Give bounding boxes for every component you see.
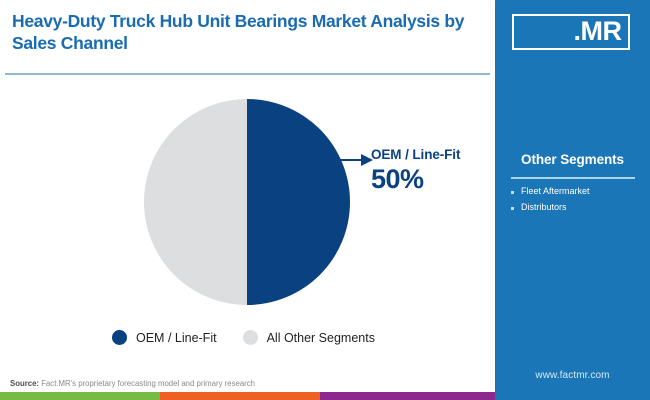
legend-item-all-other-segments[interactable]: All Other Segments (243, 330, 375, 345)
pie-slice-all-other-segments[interactable] (144, 99, 247, 305)
pie-chart (144, 99, 350, 305)
legend-swatch-icon (112, 330, 127, 345)
callout-value: 50% (371, 165, 491, 193)
bullet-icon (511, 191, 514, 194)
bullet-icon (511, 207, 514, 210)
footer-color-bar (0, 392, 495, 400)
other-segments-divider (511, 177, 635, 179)
callout-label: OEM / Line-Fit (371, 148, 491, 163)
infographic-root: Heavy-Duty Truck Hub Unit Bearings Marke… (0, 0, 650, 400)
source-note: Source: Fact.MR's proprietary forecastin… (10, 379, 255, 388)
legend-swatch-icon (243, 330, 258, 345)
logo-primary-text: Fact (520, 18, 574, 45)
pie-slice-oem-line-fit[interactable] (247, 99, 350, 305)
page-title: Heavy-Duty Truck Hub Unit Bearings Marke… (12, 10, 482, 55)
callout-arrow-icon (330, 148, 374, 172)
factmr-logo[interactable]: Fact .MR (512, 14, 630, 50)
header-divider (5, 73, 490, 75)
website-url[interactable]: www.factmr.com (495, 370, 650, 381)
brand-panel: Fact .MR Other Segments Fleet Aftermarke… (495, 0, 650, 400)
chart-panel: Heavy-Duty Truck Hub Unit Bearings Marke… (0, 0, 495, 400)
list-item: Fleet Aftermarket (511, 185, 646, 197)
footer-bar-segment-purple (320, 392, 495, 400)
list-item-label: Fleet Aftermarket (521, 185, 590, 197)
list-item-label: Distributors (521, 201, 567, 213)
legend-label: OEM / Line-Fit (136, 331, 217, 345)
callout: OEM / Line-Fit 50% (371, 148, 491, 193)
source-prefix: Source: (10, 379, 39, 388)
legend-item-oem-line-fit[interactable]: OEM / Line-Fit (112, 330, 217, 345)
other-segments-title: Other Segments (495, 152, 650, 167)
other-segments-list: Fleet Aftermarket Distributors (511, 185, 646, 217)
source-text: Fact.MR's proprietary forecasting model … (39, 379, 255, 388)
footer-bar-segment-green (0, 392, 160, 400)
list-item: Distributors (511, 201, 646, 213)
footer-bar-segment-orange (160, 392, 320, 400)
logo-secondary-text: .MR (574, 18, 622, 45)
pie-chart-svg (144, 99, 350, 305)
chart-legend: OEM / Line-Fit All Other Segments (112, 330, 375, 345)
legend-label: All Other Segments (267, 331, 375, 345)
